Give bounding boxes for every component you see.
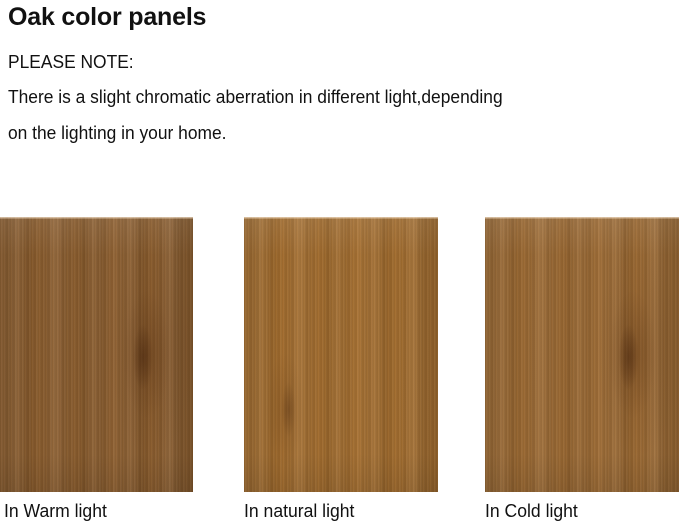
panel-top-edge-highlight [0, 217, 193, 219]
page-title: Oak color panels [8, 2, 206, 32]
wood-panel-cold-light [485, 217, 679, 492]
panel-top-edge-highlight [485, 217, 679, 219]
panel-label-row: In Warm light In natural light In Cold l… [0, 492, 679, 526]
wood-panel-shading [0, 217, 193, 492]
note-text-line-1: There is a slight chromatic aberration i… [8, 86, 503, 108]
wood-panel-shading [485, 217, 679, 492]
note-text-line-2: on the lighting in your home. [8, 122, 226, 144]
wood-panel-warm-light [0, 217, 193, 492]
panel-label-warm-light: In Warm light [4, 500, 107, 522]
panel-label-cold-light: In Cold light [485, 500, 578, 522]
panel-label-natural-light: In natural light [244, 500, 354, 522]
panel-top-edge-highlight [244, 217, 438, 219]
wood-panel-row [0, 217, 679, 492]
wood-panel-natural-light [244, 217, 438, 492]
please-note-label: PLEASE NOTE: [8, 51, 134, 73]
wood-panel-shading [244, 217, 438, 492]
